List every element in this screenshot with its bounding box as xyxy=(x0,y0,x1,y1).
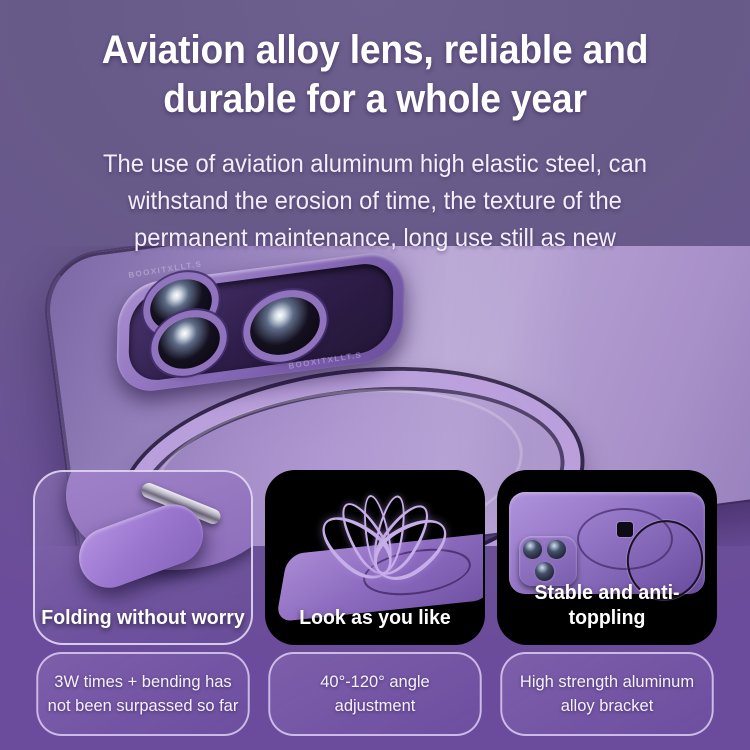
feature-card-angle: Look as you like 40°-120° angle adjustme… xyxy=(265,470,485,750)
feature-card-stable: Stable and anti-toppling High strength a… xyxy=(497,470,717,750)
product-marketing-banner: BOOXITXLLT.S BOOXITXLLT.S Aviation alloy… xyxy=(0,0,750,750)
subheadline-line-2: withstand the erosion of time, the textu… xyxy=(19,183,732,220)
feature-card-stable-caption: High strength aluminum alloy bracket xyxy=(500,652,713,736)
feature-cards: Folding without worry 3W times + bending… xyxy=(0,470,750,750)
headline-line-1: Aviation alloy lens, reliable and xyxy=(26,26,724,75)
feature-card-stable-title: Stable and anti-toppling xyxy=(504,580,709,643)
headline-line-2: durable for a whole year xyxy=(26,75,724,124)
headline: Aviation alloy lens, reliable and durabl… xyxy=(26,26,724,124)
feature-card-folding: Folding without worry 3W times + bending… xyxy=(33,470,253,750)
stable-camera-lens-1 xyxy=(523,540,542,559)
subheadline-line-3: permanent maintenance, long use still as… xyxy=(19,220,732,257)
feature-card-angle-caption: 40°-120° angle adjustment xyxy=(268,652,481,736)
stable-bracket-hinge xyxy=(617,522,633,537)
stable-camera-lens-3 xyxy=(535,562,554,581)
feature-card-folding-title: Folding without worry xyxy=(40,605,245,643)
feature-card-angle-title: Look as you like xyxy=(272,605,477,643)
subheadline-line-1: The use of aviation aluminum high elasti… xyxy=(19,146,732,183)
feature-card-angle-image: Look as you like xyxy=(265,470,485,645)
feature-card-stable-image: Stable and anti-toppling xyxy=(497,470,717,645)
stable-camera-lens-2 xyxy=(547,540,566,559)
subheadline: The use of aviation aluminum high elasti… xyxy=(19,146,732,257)
feature-card-folding-caption: 3W times + bending has not been surpasse… xyxy=(36,652,249,736)
feature-card-folding-image: Folding without worry xyxy=(33,470,253,645)
